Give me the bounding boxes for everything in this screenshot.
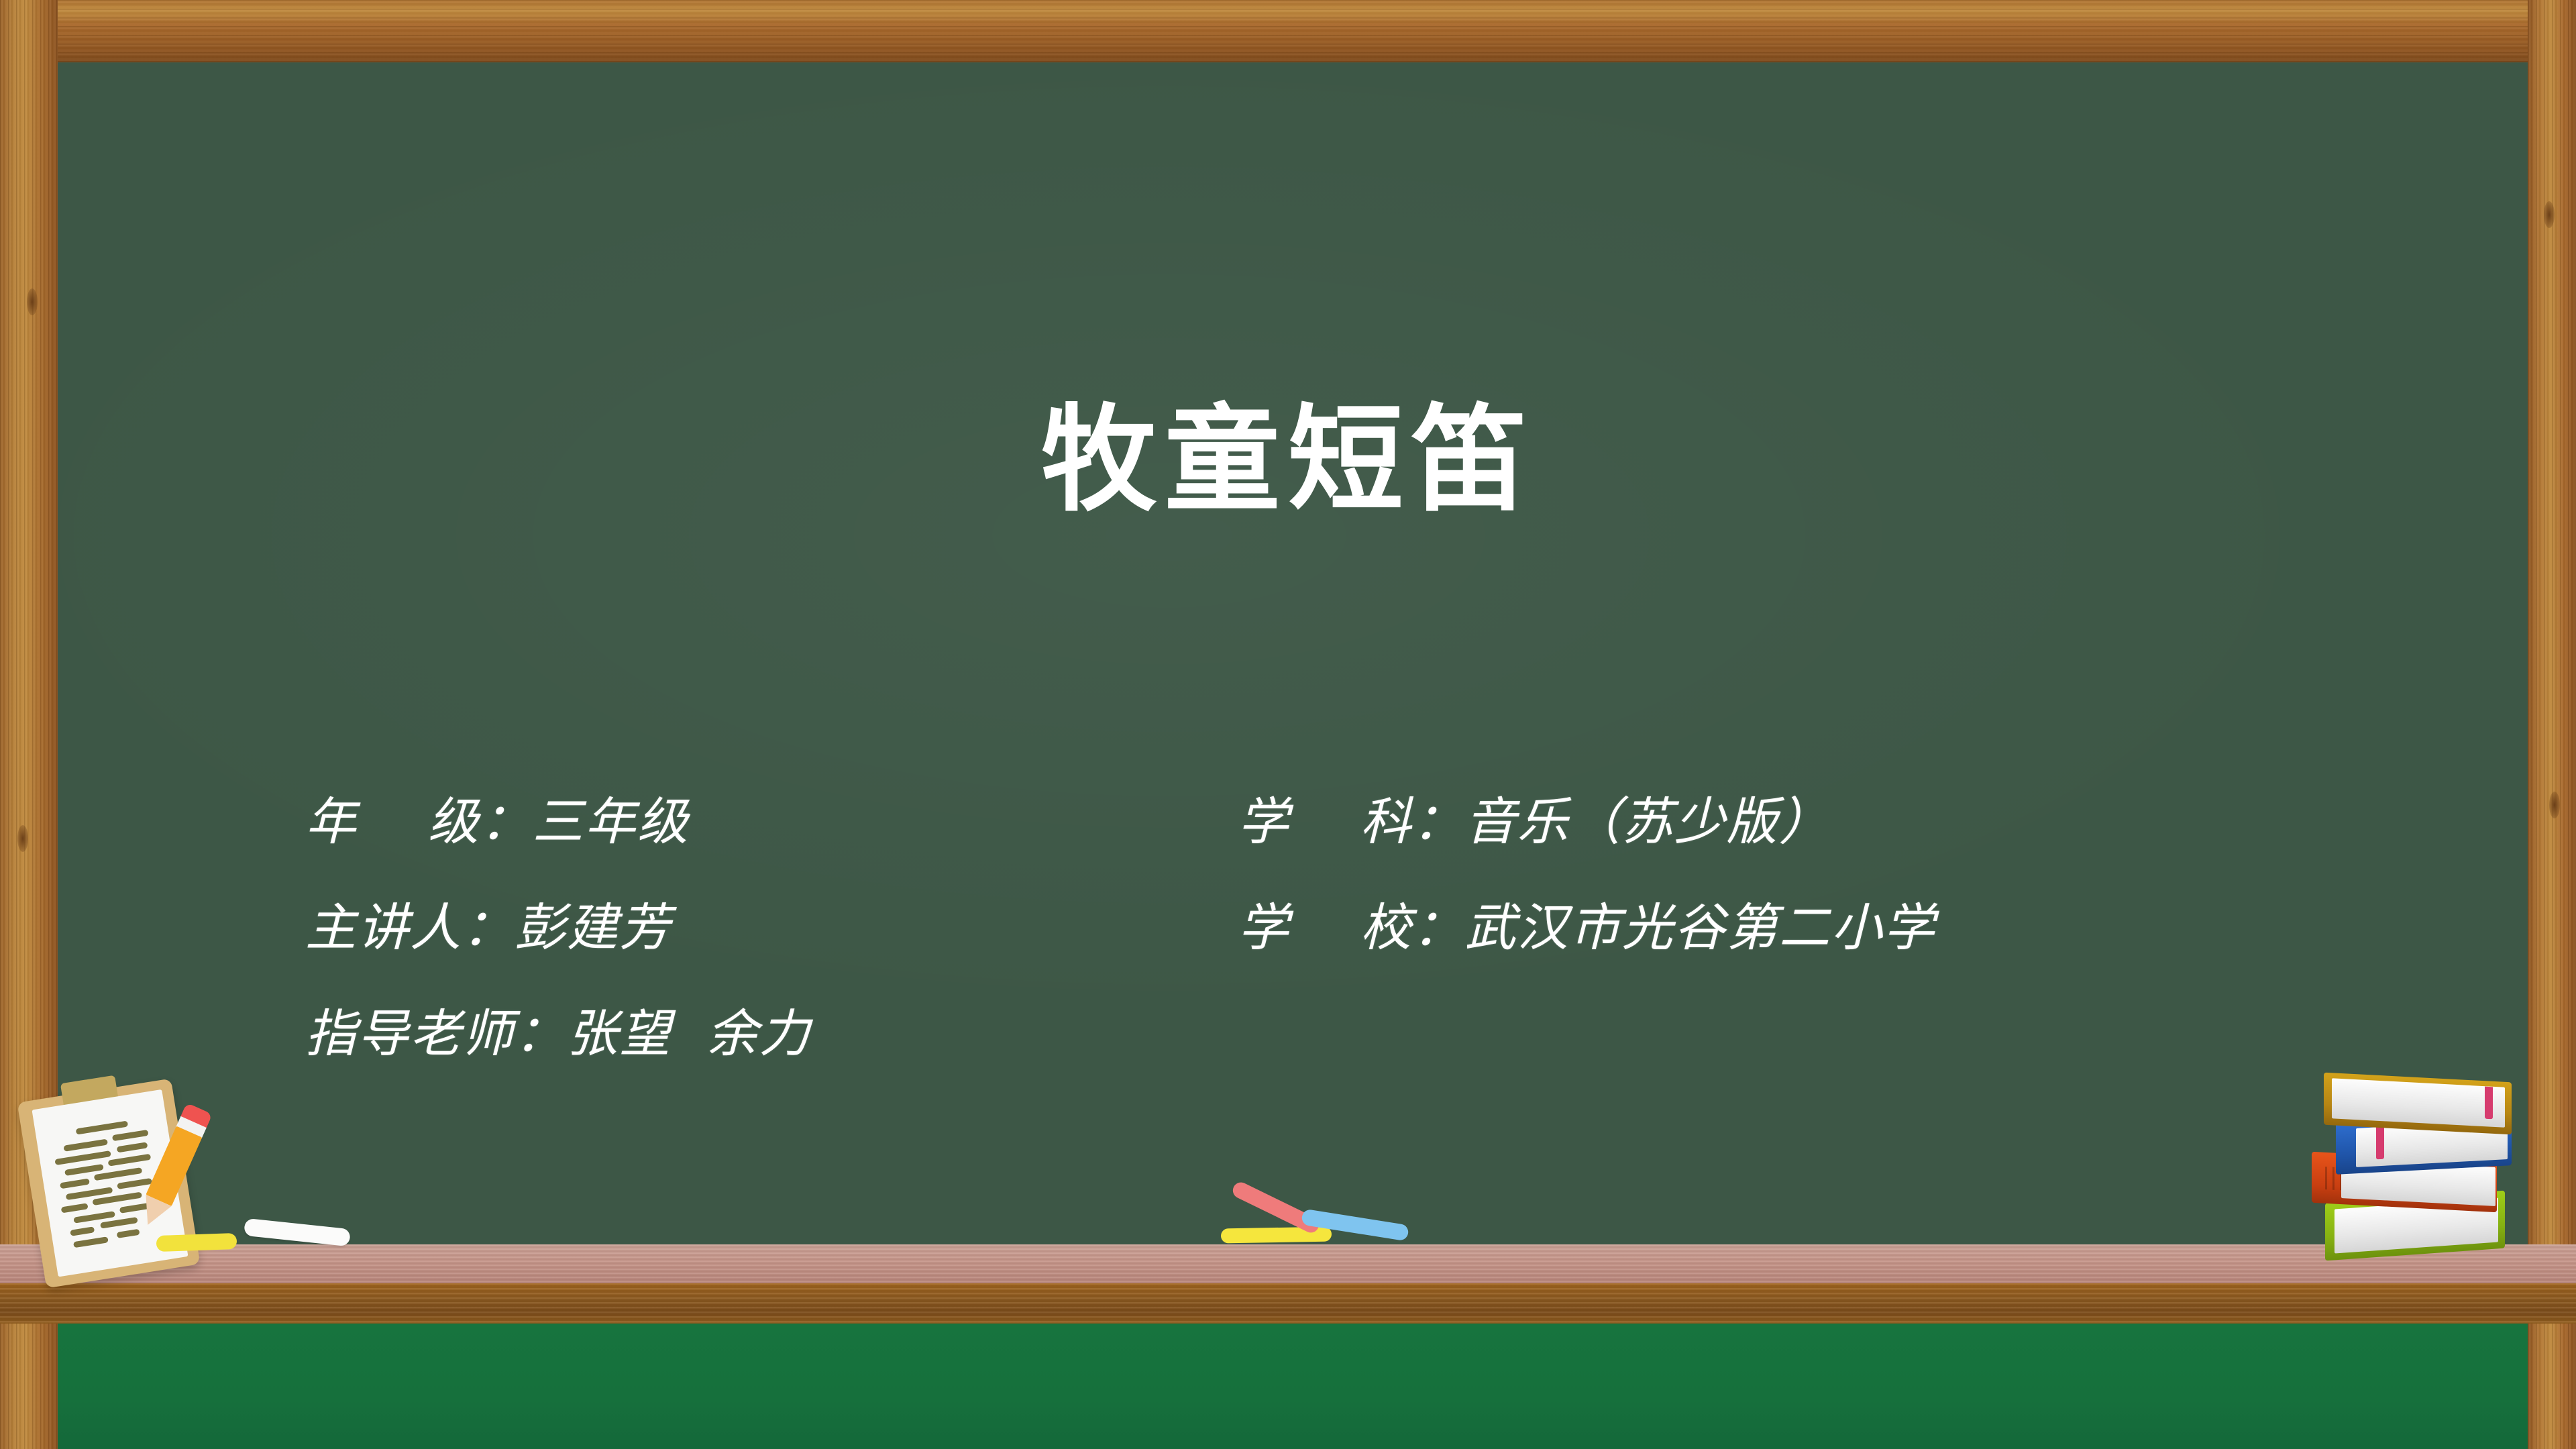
bookmark-gold [2485,1087,2493,1120]
info-cell-right: 学 校：武汉市光谷第二小学 [1238,901,2318,955]
board-frame-right [2528,0,2576,1449]
presenter-label: 主讲人：彭建芳 [305,898,672,957]
info-cell-right: 学 科：音乐（苏少版） [1238,795,2318,849]
info-row: 主讲人：彭建芳 学 校：武汉市光谷第二小学 [305,901,2318,1007]
slide-title: 牧童短笛 [0,402,2576,518]
floor-strip [0,1324,2576,1449]
chalk-icon-yellow-left [156,1233,237,1252]
clipboard-icon [17,1079,201,1289]
slide-info-block: 年 级：三年级 学 科：音乐（苏少版） 主讲人：彭建芳 学 校：武汉市光谷第二小… [305,795,2318,1113]
chalk-group-center [1194,1195,1449,1256]
chalk-ledge-face [0,1283,2576,1324]
info-row: 年 级：三年级 学 科：音乐（苏少版） [305,795,2318,901]
info-cell-left: 年 级：三年级 [305,795,1238,849]
slide-stage: 牧童短笛 年 级：三年级 学 科：音乐（苏少版） 主讲人：彭建芳 学 校：武汉市… [0,0,2576,1449]
info-cell-left: 主讲人：彭建芳 [305,901,1238,955]
advisor-label: 指导老师：张望 余力 [305,1004,811,1063]
book-stack-icon [2302,1072,2524,1273]
school-label: 学 校：武汉市光谷第二小学 [1238,898,1936,957]
bookmark-blue [2376,1127,2384,1160]
info-row: 指导老师：张望 余力 [305,1007,2318,1113]
subject-label: 学 科：音乐（苏少版） [1238,792,1831,851]
clipboard-decoration [19,1075,240,1296]
board-frame-top [0,0,2576,62]
info-cell-left: 指导老师：张望 余力 [305,1007,1238,1061]
grade-label: 年 级：三年级 [305,792,690,851]
